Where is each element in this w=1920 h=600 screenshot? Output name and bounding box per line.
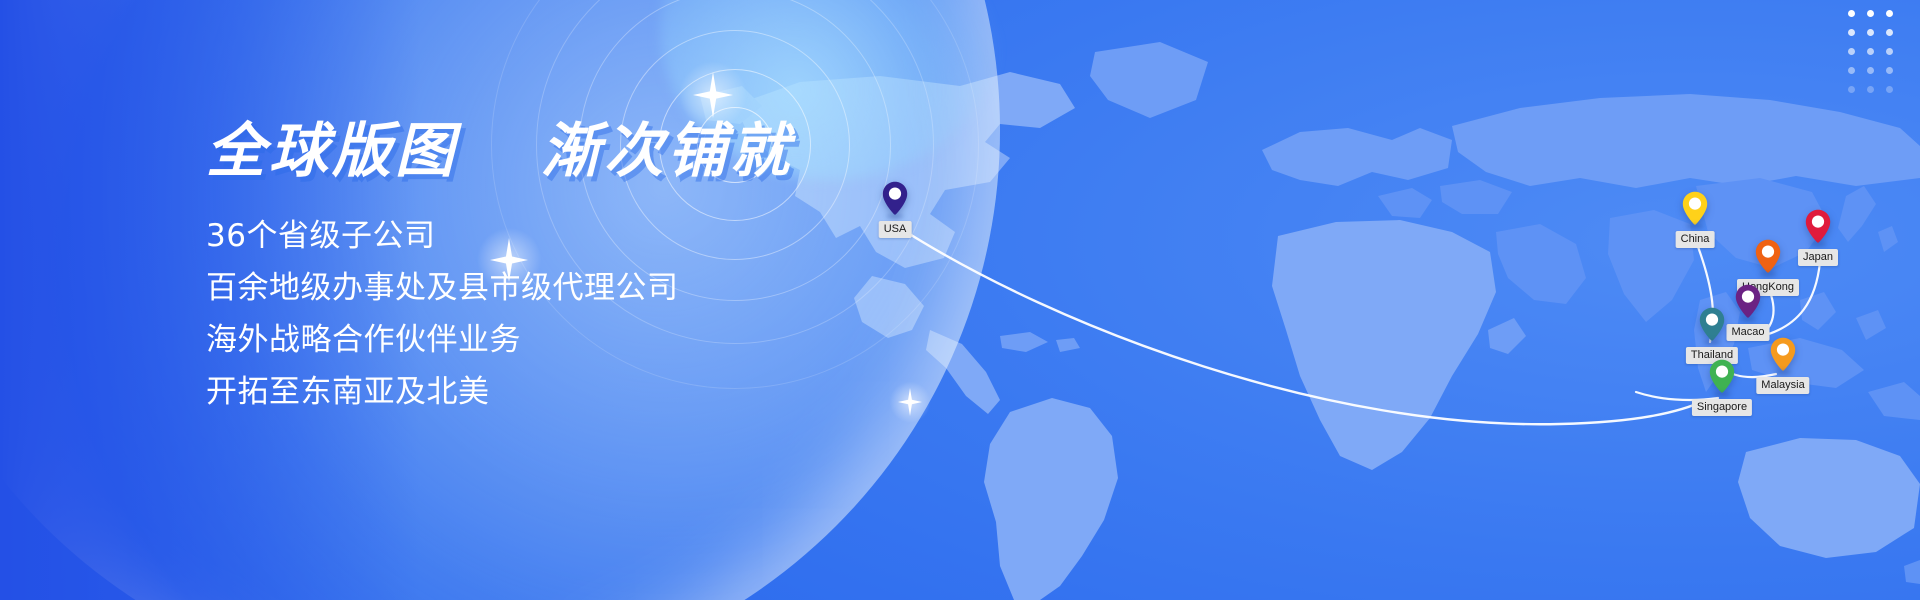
map-marker-label: Malaysia <box>1756 377 1809 394</box>
dot-grid-dot <box>1886 29 1893 36</box>
map-marker-hongkong[interactable]: HongKong <box>1755 239 1781 273</box>
map-marker-china[interactable]: China <box>1682 191 1708 225</box>
map-marker-label: China <box>1676 231 1715 248</box>
map-pin-icon <box>882 181 908 215</box>
map-pin-icon <box>1682 191 1708 225</box>
map-pin-shadow <box>1809 242 1827 247</box>
map-marker-thailand[interactable]: Thailand <box>1699 307 1725 341</box>
global-footprint-banner: 全球版图 渐次铺就 36个省级子公司 百余地级办事处及县市级代理公司 海外战略合… <box>0 0 1920 600</box>
dot-grid-dot <box>1848 10 1855 17</box>
dot-grid-dot <box>1867 10 1874 17</box>
map-marker-label: Macao <box>1726 324 1769 341</box>
map-pin-shadow <box>1686 224 1704 229</box>
map-pin-shadow <box>1774 370 1792 375</box>
dot-grid-dot <box>1886 86 1893 93</box>
map-marker-label: Japan <box>1798 249 1838 266</box>
map-pin-icon <box>1770 337 1796 371</box>
dot-grid-dot <box>1867 48 1874 55</box>
map-pin-shadow <box>1759 272 1777 277</box>
dot-grid-dot <box>1867 29 1874 36</box>
dot-grid-dot <box>1867 67 1874 74</box>
dot-grid-dot <box>1848 48 1855 55</box>
map-marker-macao[interactable]: Macao <box>1735 284 1761 318</box>
map-pin-icon <box>1735 284 1761 318</box>
map-marker-singapore[interactable]: Singapore <box>1709 359 1735 393</box>
dot-grid-dot <box>1848 67 1855 74</box>
map-marker-usa[interactable]: USA <box>882 181 908 215</box>
map-pin-icon <box>1805 209 1831 243</box>
map-pin-icon <box>1709 359 1735 393</box>
map-pin-icon <box>1755 239 1781 273</box>
map-marker-label: USA <box>879 221 912 238</box>
map-pin-shadow <box>886 214 904 219</box>
map-marker-layer: USAChinaJapanHongKongMacaoThailandSingap… <box>0 0 1920 600</box>
map-marker-japan[interactable]: Japan <box>1805 209 1831 243</box>
dot-grid-dot <box>1886 48 1893 55</box>
dot-grid-decoration <box>1848 10 1896 96</box>
map-marker-malaysia[interactable]: Malaysia <box>1770 337 1796 371</box>
dot-grid-dot <box>1848 29 1855 36</box>
map-pin-icon <box>1699 307 1725 341</box>
map-pin-shadow <box>1713 392 1731 397</box>
dot-grid-dot <box>1886 67 1893 74</box>
dot-grid-dot <box>1867 86 1874 93</box>
map-pin-shadow <box>1739 317 1757 322</box>
dot-grid-dot <box>1848 86 1855 93</box>
map-marker-label: Singapore <box>1692 399 1752 416</box>
dot-grid-dot <box>1886 10 1893 17</box>
map-pin-shadow <box>1703 340 1721 345</box>
